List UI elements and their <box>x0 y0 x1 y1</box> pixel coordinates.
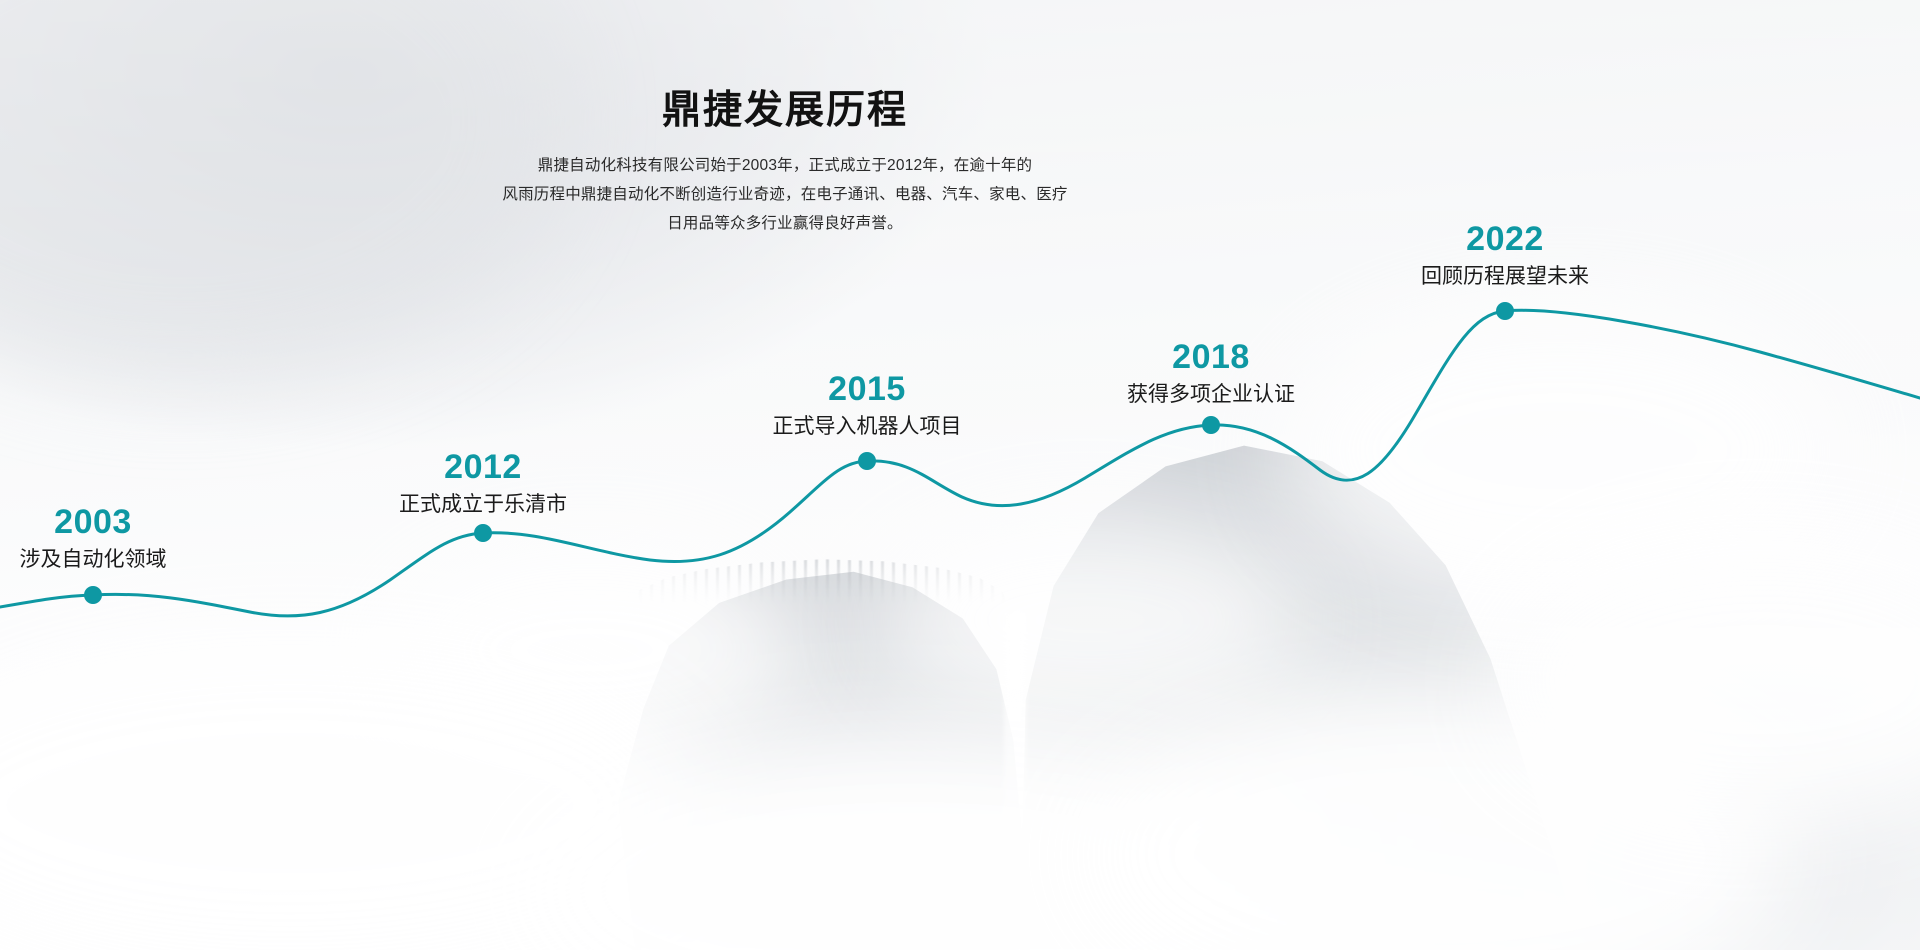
milestone-2012[interactable]: 2012 正式成立于乐清市 <box>399 450 567 517</box>
milestone-2003[interactable]: 2003 涉及自动化领域 <box>20 505 167 572</box>
milestone-year: 2018 <box>1127 340 1295 374</box>
milestone-2022[interactable]: 2022 回顾历程展望未来 <box>1421 222 1589 289</box>
timeline: 2003 涉及自动化领域 2012 正式成立于乐清市 2015 正式导入机器人项… <box>0 0 1920 950</box>
timeline-dots <box>0 0 1920 950</box>
milestone-2018[interactable]: 2018 获得多项企业认证 <box>1127 340 1295 407</box>
milestone-dot-2003[interactable] <box>84 586 102 604</box>
milestone-dot-2012[interactable] <box>474 524 492 542</box>
milestone-year: 2012 <box>399 450 567 484</box>
milestone-label: 正式成立于乐清市 <box>399 492 567 517</box>
milestone-label: 正式导入机器人项目 <box>773 414 962 439</box>
milestone-label: 涉及自动化领域 <box>20 547 167 572</box>
milestone-dot-2015[interactable] <box>858 452 876 470</box>
milestone-year: 2022 <box>1421 222 1589 256</box>
milestone-2015[interactable]: 2015 正式导入机器人项目 <box>773 372 962 439</box>
milestone-year: 2015 <box>773 372 962 406</box>
milestone-label: 回顾历程展望未来 <box>1421 264 1589 289</box>
milestone-dot-2022[interactable] <box>1496 302 1514 320</box>
milestone-year: 2003 <box>20 505 167 539</box>
timeline-page: 鼎捷发展历程 鼎捷自动化科技有限公司始于2003年，正式成立于2012年，在逾十… <box>0 0 1920 950</box>
milestone-dot-2018[interactable] <box>1202 416 1220 434</box>
milestone-label: 获得多项企业认证 <box>1127 382 1295 407</box>
